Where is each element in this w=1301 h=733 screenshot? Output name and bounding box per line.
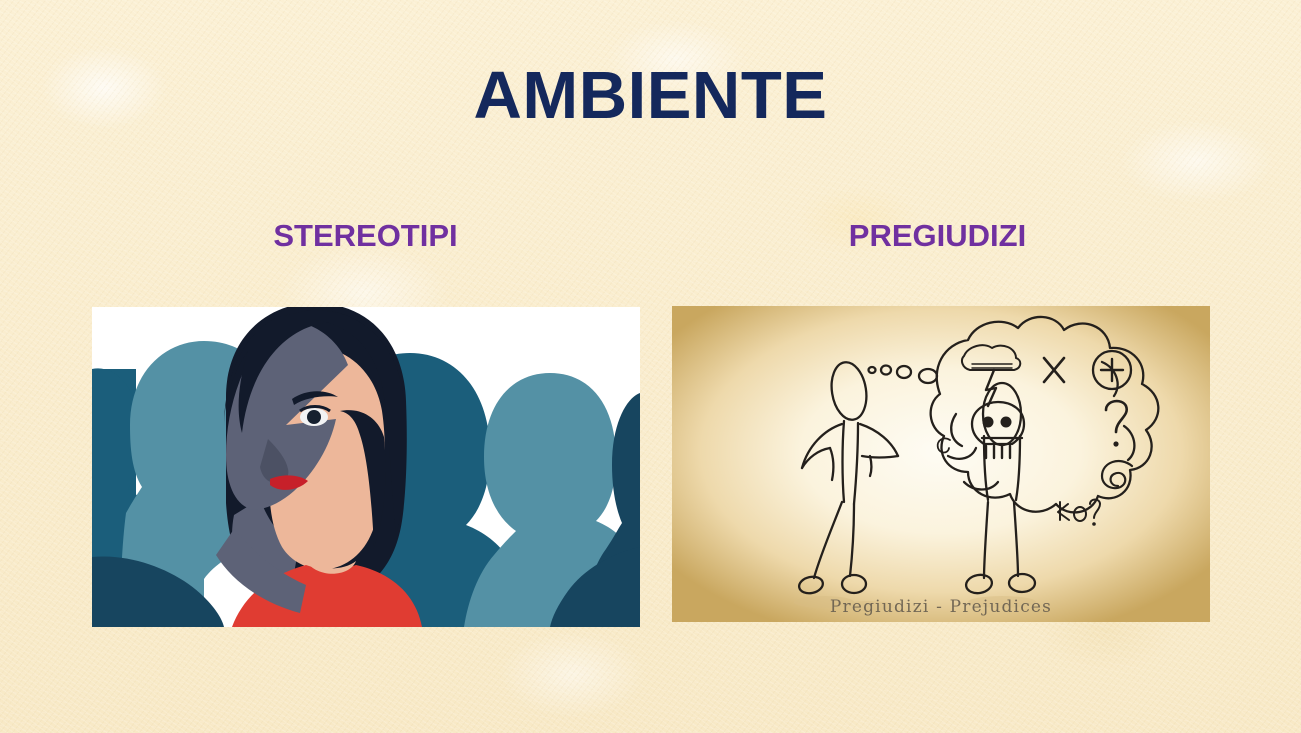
stereotipi-vector — [92, 307, 640, 627]
page-title: AMBIENTE — [0, 57, 1301, 134]
ko-question-dot — [1092, 522, 1096, 526]
question-mark-dot — [1113, 441, 1118, 446]
woman-eye-pupil — [307, 410, 321, 424]
slide-canvas: AMBIENTE STEREOTIPI PREGIUDIZI — [0, 0, 1301, 733]
pregiudizi-illustration — [672, 306, 1210, 622]
stereotipi-illustration — [92, 307, 640, 627]
pregiudizi-vector — [672, 306, 1210, 622]
skull-eye-right — [1001, 417, 1012, 428]
section-heading-pregiudizi: PREGIUDIZI — [760, 218, 1115, 254]
section-heading-stereotipi: STEREOTIPI — [188, 218, 543, 254]
pregiudizi-caption: Pregiudizi - Prejudices — [672, 597, 1210, 617]
